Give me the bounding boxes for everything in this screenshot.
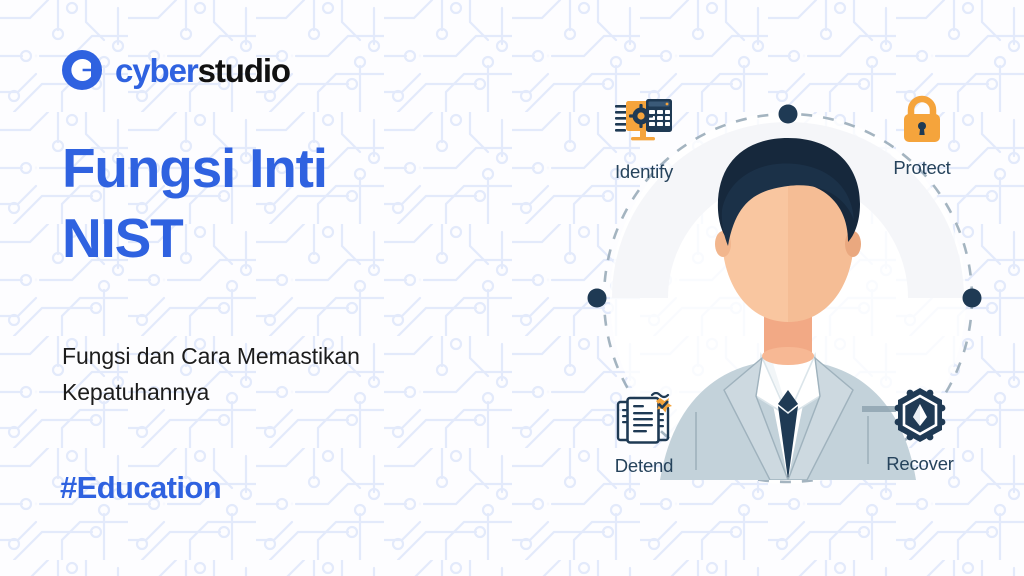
page-title-line-2: NIST <box>62 203 522 273</box>
node-identify-label: Identify <box>592 161 696 183</box>
node-detend[interactable]: Detend <box>592 390 696 477</box>
cyberstudio-c-mark-icon <box>62 50 102 90</box>
page-subtitle-line-1: Fungsi dan Cara Memastikan <box>62 339 482 375</box>
node-recover-label: Recover <box>868 453 972 475</box>
slide-canvas: cyberstudio Fungsi Inti NIST Fungsi dan … <box>0 0 1024 576</box>
node-recover[interactable]: Recover <box>868 388 972 475</box>
ring-dot-right <box>963 289 982 308</box>
page-title-line-1: Fungsi Inti <box>62 133 522 203</box>
brand-logo[interactable]: cyberstudio <box>62 50 290 90</box>
brand-name: cyberstudio <box>115 54 290 87</box>
ring-dot-top <box>779 105 798 124</box>
node-detend-label: Detend <box>592 455 696 477</box>
node-protect-label: Protect <box>870 157 974 179</box>
node-identify[interactable]: Identify <box>592 96 696 183</box>
monitor-analysis-icon <box>592 96 696 152</box>
hashtag-label: #Education <box>60 470 221 506</box>
page-subtitle: Fungsi dan Cara Memastikan Kepatuhannya <box>62 339 482 410</box>
padlock-icon <box>870 92 974 148</box>
page-subtitle-line-2: Kepatuhannya <box>62 375 482 411</box>
node-protect[interactable]: Protect <box>870 92 974 179</box>
document-checklist-icon <box>592 390 696 446</box>
ring-dot-left <box>588 289 607 308</box>
hexagon-shield-badge-icon <box>868 388 972 444</box>
brand-name-studio: studio <box>198 52 290 89</box>
page-title: Fungsi Inti NIST <box>62 133 522 274</box>
brand-name-cyber: cyber <box>115 52 198 89</box>
